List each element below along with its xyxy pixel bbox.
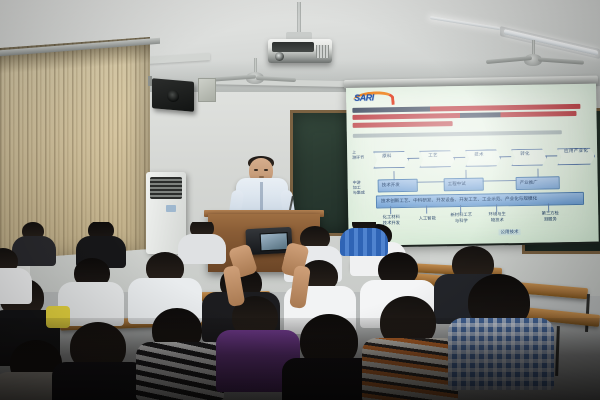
audience-body-striped: [136, 342, 224, 400]
slide-group-box-3-label: 产业推广: [520, 180, 538, 186]
audience-body: [12, 236, 56, 266]
sari-logo: SARI: [352, 91, 392, 105]
slide-tick-1: [390, 206, 391, 214]
slide-group-box-2-label: 工程中试: [448, 181, 466, 187]
flow-stage-3-label: 技术: [474, 152, 484, 158]
slide-text-line-4: [353, 130, 562, 138]
flow-arrow-3: [499, 156, 511, 157]
air-conditioner-vent: [150, 177, 182, 199]
speaker-cone: [167, 89, 179, 102]
flow-stage-1-label: 原料: [382, 153, 392, 159]
air-conditioner-display: [166, 205, 176, 212]
slide-leaf-2: 人工智能: [414, 215, 440, 221]
audience-body-front: [52, 362, 146, 400]
wall-mounted-box: [198, 78, 216, 102]
flow-arrow-2: [453, 157, 465, 158]
projector-lens: [275, 52, 284, 61]
presenter-eye-left: [254, 169, 258, 171]
audience-body: [0, 268, 32, 304]
slide-tick-2: [426, 206, 427, 214]
sari-logo-text: SARI: [354, 93, 374, 103]
slide-side-label-1: 上 游环节: [352, 150, 370, 160]
wall-speaker: [152, 78, 194, 112]
audience-body-blue-stripe: [340, 228, 388, 256]
slide-side-label-2: 中游 加工 与集成: [353, 180, 371, 195]
slide-group-box-1-label: 技术开发: [382, 182, 400, 188]
slide-text-line-2: [352, 111, 576, 120]
lecture-hall-photo: SARI 原料 工艺 技术 转化: [0, 0, 600, 400]
slide-leaf-4: 环境与生 物技术: [482, 211, 512, 223]
flow-arrow-1: [407, 158, 419, 159]
audience-body: [178, 234, 226, 264]
slide-flow-diagram: 原料 工艺 技术 转化 应用产业化: [373, 146, 585, 172]
audience-body-orange-striped: [362, 338, 458, 400]
slide-text-line-3: [353, 121, 453, 128]
ceiling-projector: [268, 39, 332, 63]
projector-vent: [316, 45, 329, 58]
flow-stage-4-label: 转化: [520, 151, 530, 157]
flow-arrow-4: [545, 155, 557, 156]
audience-yellow-shirt: [46, 306, 70, 328]
slide-leaf-5: 第三方检 测服务: [534, 210, 566, 222]
presenter-eye-right: [264, 169, 268, 171]
flow-stage-2-label: 工艺: [428, 152, 438, 158]
desk-leg-d: [555, 326, 560, 376]
camera-lcd-screen: [260, 232, 289, 251]
projector-mount-rod: [297, 2, 301, 34]
audience-body-checkered: [448, 318, 554, 390]
flow-stage-5-label: 应用产业化: [564, 148, 588, 153]
projector-top-panel: [272, 42, 314, 52]
